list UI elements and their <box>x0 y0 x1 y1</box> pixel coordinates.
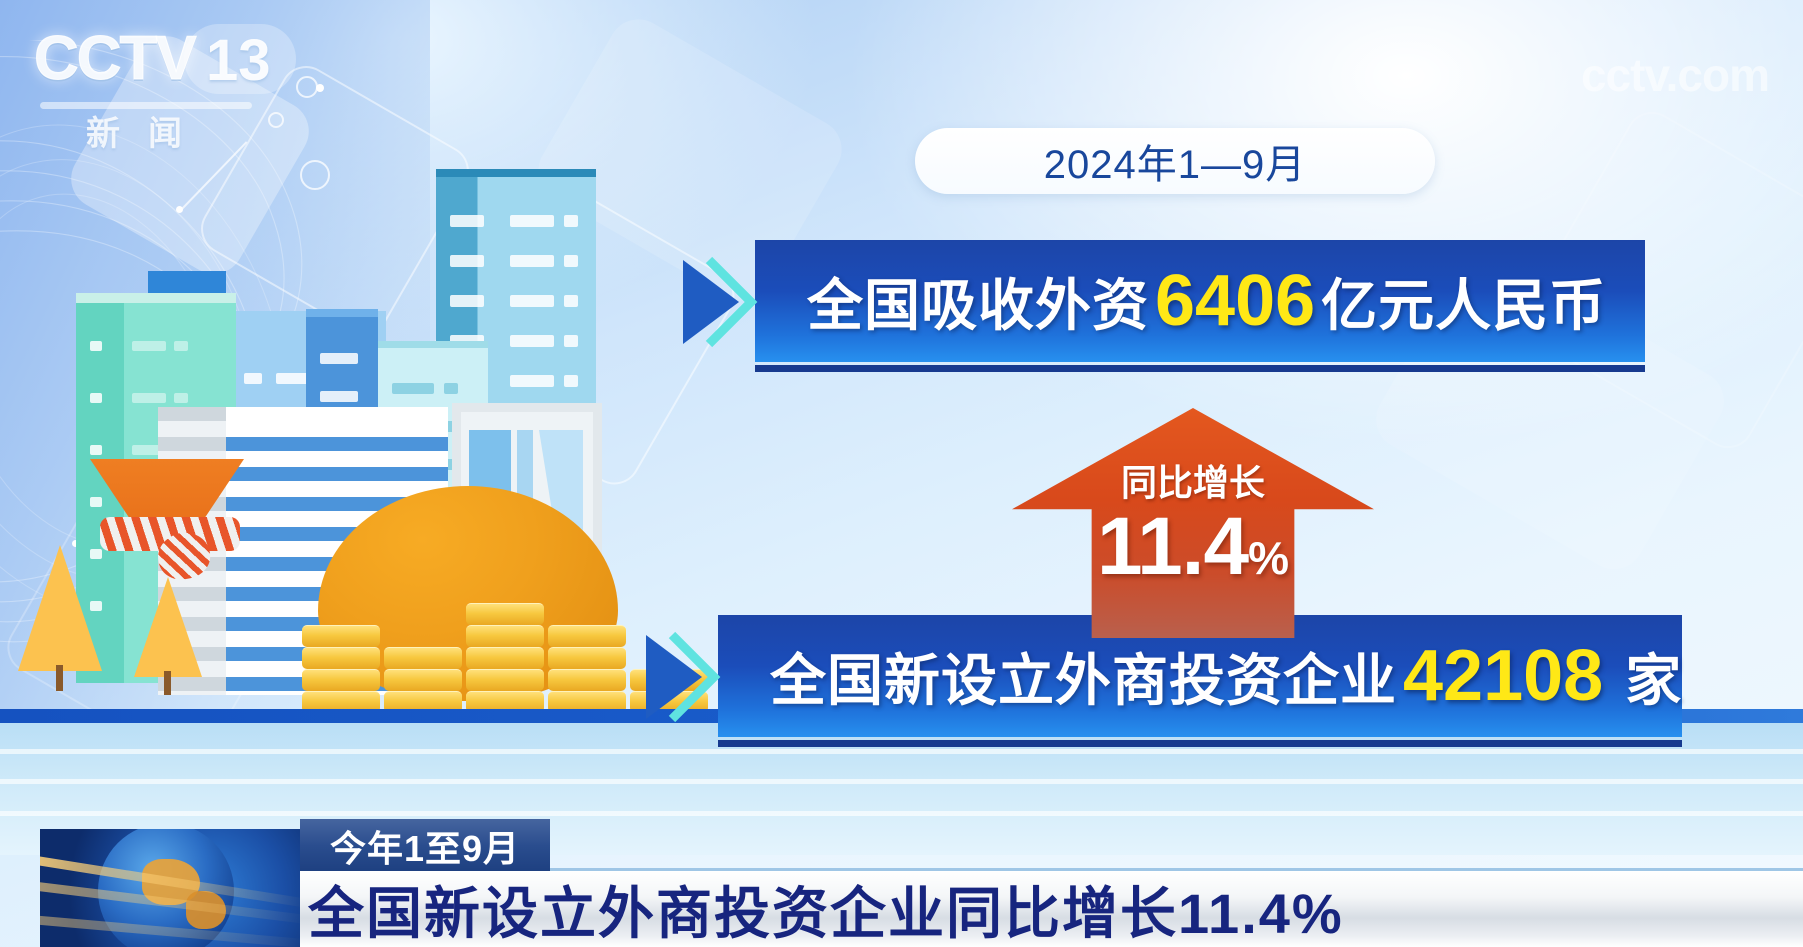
stat-banner-1-body: 全国吸收外资 6406 亿元人民币 <box>755 240 1645 362</box>
stat-banner-1: 全国吸收外资 6406 亿元人民币 <box>755 240 1645 362</box>
date-range-text: 2024年1—9月 <box>1044 132 1306 190</box>
date-range-pill: 2024年1—9月 <box>915 128 1435 194</box>
chevron-right-icon <box>679 254 771 350</box>
broadcast-frame: CCTV 13 新闻 cctv.com <box>0 0 1803 947</box>
decor-ring-1 <box>296 76 318 98</box>
chevron-right-icon <box>642 629 734 725</box>
lower-third-headline-bar: 全国新设立外商投资企业同比增长11.4% <box>300 871 1803 947</box>
stat-banner-2-value: 42108 <box>1397 635 1609 717</box>
growth-arrow-label: 同比增长 <box>1012 454 1374 506</box>
stat-banner-1-suffix: 亿元人民币 <box>1321 261 1606 342</box>
growth-arrow: 同比增长 11.4% <box>1012 408 1374 638</box>
stat-banner-1-prefix: 全国吸收外资 <box>807 261 1149 342</box>
lower-third-tag: 今年1至9月 <box>300 819 550 873</box>
channel-sub-text: 新闻 <box>86 106 210 155</box>
stat-banner-1-value: 6406 <box>1149 260 1321 342</box>
growth-arrow-value: 11.4 <box>1097 501 1248 592</box>
stat-banner-2-prefix: 全国新设立外商投资企业 <box>770 636 1397 717</box>
cctv-watermark: cctv.com <box>1581 48 1769 102</box>
lower-third-headline: 全国新设立外商投资企业同比增长11.4% <box>300 869 1344 947</box>
growth-arrow-unit: % <box>1248 532 1289 584</box>
globe-icon <box>40 829 312 947</box>
lower-third: 今年1至9月 全国新设立外商投资企业同比增长11.4% <box>0 827 1803 947</box>
lower-third-tag-text: 今年1至9月 <box>330 820 520 872</box>
decor-dot-1 <box>316 84 324 92</box>
channel-logo: CCTV 13 新闻 <box>34 28 296 138</box>
stat-banner-2-suffix: 家 <box>1625 636 1682 717</box>
stat-banner-2-text: 全国新设立外商投资企业 42108 家 <box>718 635 1682 717</box>
growth-arrow-value-group: 11.4% <box>1012 500 1374 594</box>
channel-number-text: 13 <box>206 32 271 90</box>
stat-banner-1-text: 全国吸收外资 6406 亿元人民币 <box>755 260 1606 342</box>
